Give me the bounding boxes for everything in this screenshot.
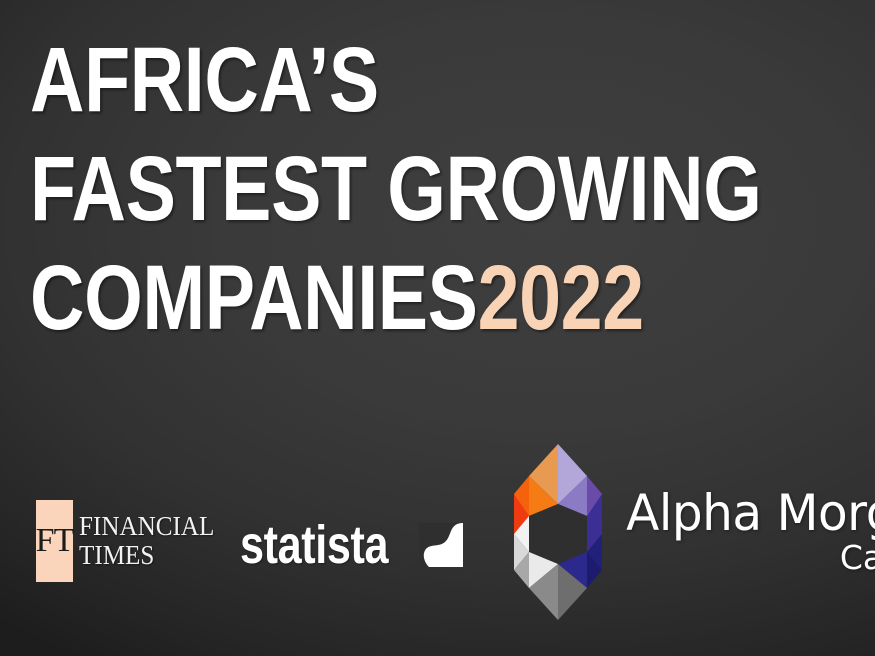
- statista-wordmark: statista: [240, 518, 388, 572]
- alpha-morgan-name: Alpha Morgan: [626, 488, 875, 538]
- headline-line-3-main: COMPANIES: [30, 247, 478, 349]
- headline-line-3: COMPANIES2022: [30, 254, 702, 343]
- financial-times-wordmark: FINANCIAL TIMES: [79, 500, 225, 582]
- headline-line-2: FASTEST GROWING: [30, 145, 702, 234]
- financial-times-logo: FT FINANCIAL TIMES: [36, 500, 225, 582]
- alpha-morgan-wordmark: Alpha Morgan Capital: [616, 488, 875, 576]
- ft-word-times: TIMES: [79, 541, 214, 570]
- statista-logo: statista: [240, 518, 463, 572]
- alpha-morgan-subtitle: Capital: [840, 540, 875, 576]
- ft-monogram-text: FT: [36, 524, 74, 558]
- poster-canvas: AFRICA’S FASTEST GROWING COMPANIES2022 F…: [0, 0, 875, 656]
- ft-monogram-box: FT: [36, 500, 73, 582]
- alpha-morgan-prism-icon: [510, 442, 606, 622]
- alpha-morgan-logo: Alpha Morgan Capital: [510, 442, 875, 622]
- ft-word-financial: FINANCIAL: [79, 512, 214, 541]
- headline-line-1: AFRICA’S: [30, 36, 702, 125]
- headline-year: 2022: [478, 247, 644, 349]
- logo-row: FT FINANCIAL TIMES statista: [0, 440, 875, 656]
- statista-swoosh-square-icon: [419, 523, 463, 567]
- headline-block: AFRICA’S FASTEST GROWING COMPANIES2022: [30, 36, 850, 344]
